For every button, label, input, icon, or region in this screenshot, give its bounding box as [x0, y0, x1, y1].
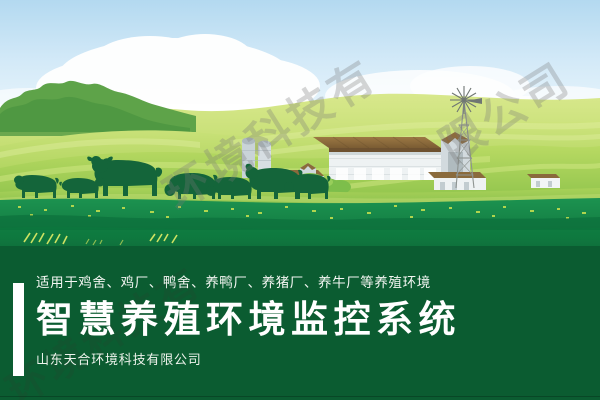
accent-bar [13, 283, 24, 376]
banner-divider [0, 396, 600, 397]
banner-text-block: 适用于鸡舍、鸡厂、鸭舍、养鸭厂、养猪厂、养牛厂等养殖环境 智慧养殖环境监控系统 … [36, 276, 576, 366]
outbuilding [527, 174, 560, 188]
title-banner: 环境科技有 适用于鸡舍、鸡厂、鸭舍、养鸭厂、养猪厂、养牛厂等养殖环境 智慧养殖环… [0, 255, 600, 400]
page-title: 智慧养殖环境监控系统 [36, 301, 576, 338]
company-name: 山东天合环境科技有限公司 [36, 353, 576, 366]
banner-subtitle: 适用于鸡舍、鸡厂、鸭舍、养鸭厂、养猪厂、养牛厂等养殖环境 [36, 276, 576, 290]
poster-root: 环境科技有 限公司 环境科技有 适用于鸡舍、鸡厂、鸭舍、养鸭厂、养猪厂、养牛厂等… [0, 0, 600, 400]
farm-landscape-illustration: 环境科技有 限公司 [0, 0, 600, 256]
